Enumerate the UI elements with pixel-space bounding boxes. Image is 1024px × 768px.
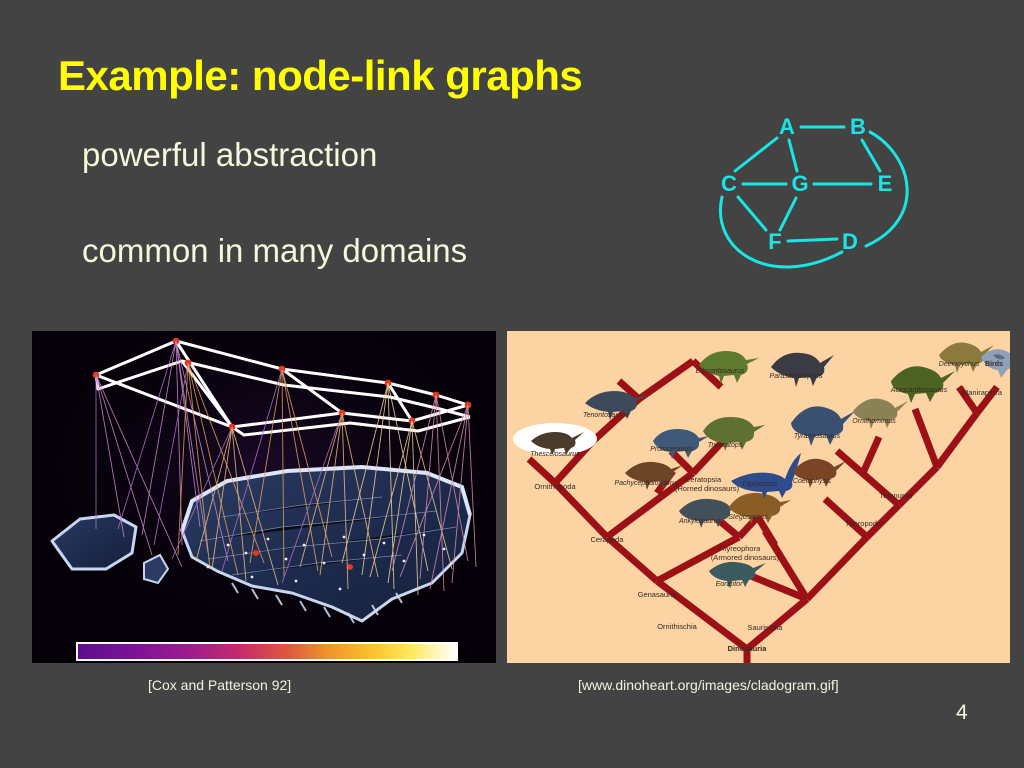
clade-label: Ornithopoda (534, 482, 576, 491)
taxon-label: Thescelosaurus (530, 451, 580, 458)
taxon-label: Acrocanthosaurus (890, 387, 948, 394)
graph-edge-a-g (789, 140, 797, 171)
graph-node-c: C (721, 171, 737, 196)
graph-node-b: B (850, 114, 866, 139)
clade-label: Thyreophora (718, 544, 761, 553)
graph-node-f: F (768, 229, 781, 254)
node-link-graph-diagram: ABCGEFD (690, 100, 950, 300)
taxon-label: Protoceratops (650, 446, 694, 453)
slide-canvas: Example: node-link graphs powerful abstr… (0, 0, 1024, 768)
clade-label: Dinosauria (728, 644, 768, 653)
page-number: 4 (956, 701, 968, 725)
clade-label: (Armored dinosaurs) (711, 553, 780, 562)
clade-label: Cerapoda (591, 535, 625, 544)
taxon-label: Parasaurolophus (770, 373, 823, 380)
clade-label: Maniraptora (962, 388, 1003, 397)
taxon-label: Edmontosaurus (695, 368, 745, 375)
taxon-label: Deinonychus (939, 361, 980, 368)
graph-node-e: E (878, 171, 893, 196)
clade-label: Tetanurae (879, 491, 912, 500)
taxon-label: Ankylosaurus (678, 518, 722, 525)
clade-label: Ornithischia (657, 622, 697, 631)
figure-right-caption: [www.dinoheart.org/images/cladogram.gif] (578, 677, 839, 693)
bullet-item-1: common in many domains (82, 232, 467, 270)
graph-edge-c-f (738, 197, 766, 230)
taxon-label: Tenontosaurus (583, 412, 630, 419)
graph-node-a: A (779, 114, 795, 139)
graph-node-g: G (791, 171, 808, 196)
graph-edge-a-c (735, 138, 777, 171)
color-legend-bar (76, 642, 458, 661)
graph-edge-g-f (780, 198, 796, 230)
clade-label: Ceratopsia (685, 475, 722, 484)
clade-label: Saurischia (747, 623, 783, 632)
graph-node-d: D (842, 229, 858, 254)
taxon-label: Tyrannosaurus (794, 433, 841, 440)
taxon-label: Birds (985, 361, 1003, 368)
bullet-item-0: powerful abstraction (82, 136, 377, 174)
clade-label: Genasauria (638, 590, 678, 599)
taxon-label: Pachycephalosaurus (615, 480, 680, 487)
figure-left-caption: [Cox and Patterson 92] (148, 677, 291, 693)
taxon-label: Diplodocus (743, 481, 778, 488)
us-map-network-visualization (32, 331, 496, 663)
taxon-label: Stegosaurus (728, 514, 768, 521)
graph-edge-b-e (862, 140, 880, 171)
taxon-label: Ornithomimus (852, 418, 896, 425)
taxon-label: Coelophysis (793, 478, 832, 485)
taxon-label: Eoraptor (716, 581, 744, 588)
page-title: Example: node-link graphs (58, 52, 582, 100)
graph-edge-f-d (788, 239, 837, 241)
clade-label: (Horned dinosaurs) (675, 484, 740, 493)
clade-label: Theropoda (845, 519, 882, 528)
taxon-label: Triceratops (708, 442, 743, 449)
dinosaur-cladogram: ThescelosaurusTenontosaurusEdmontosaurus… (507, 331, 1010, 663)
